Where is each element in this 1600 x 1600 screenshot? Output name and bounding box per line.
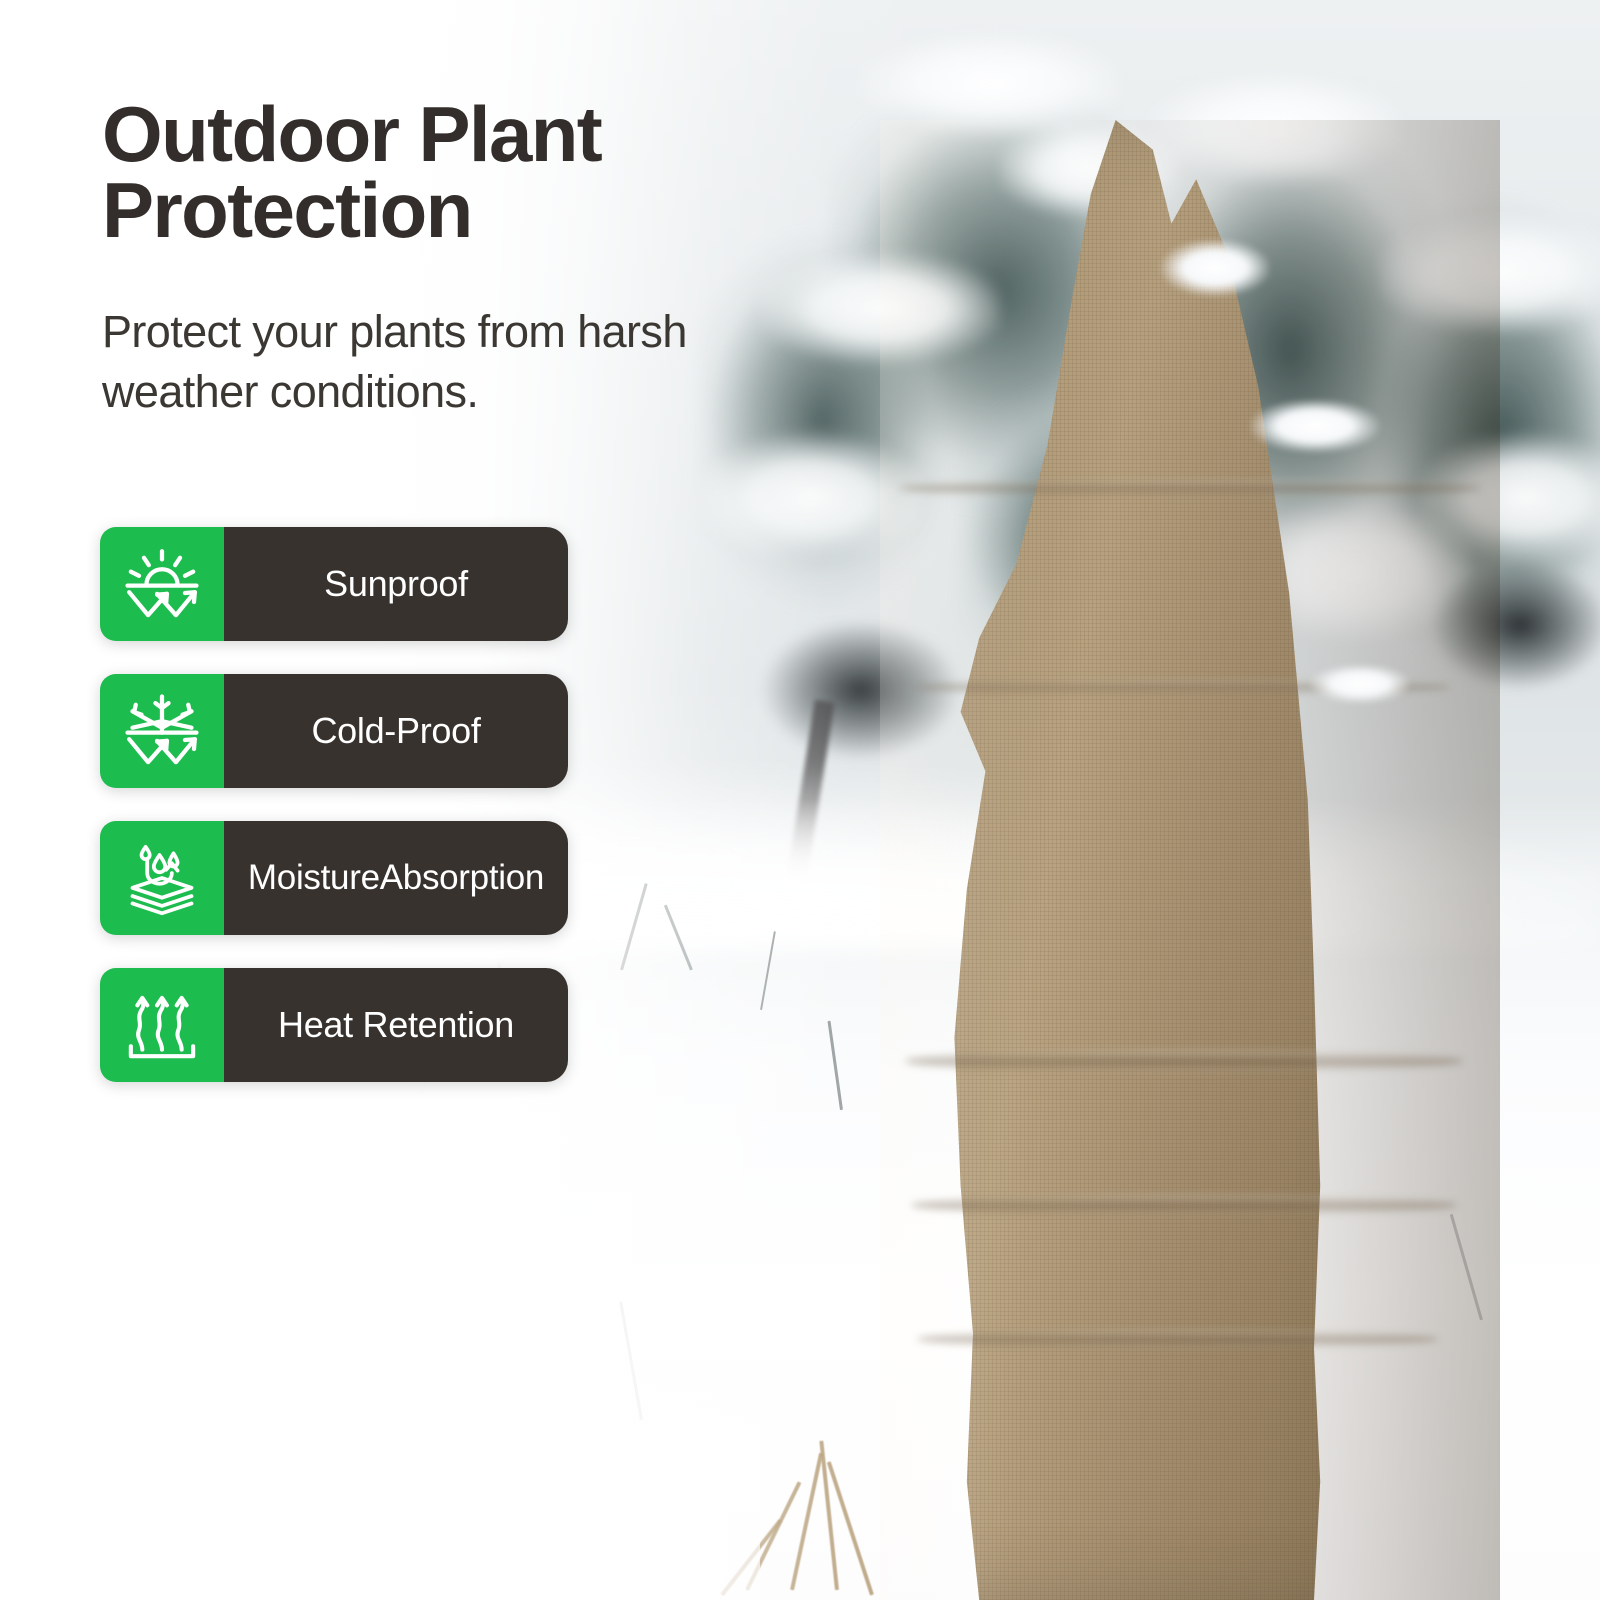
feature-label-line-2: Absorption bbox=[380, 858, 544, 898]
rising-heat-waves-icon bbox=[100, 968, 224, 1082]
feature-badge-heat-retention[interactable]: Heat Retention bbox=[100, 968, 568, 1082]
page-subtitle: Protect your plants from harsh weather c… bbox=[102, 302, 762, 422]
content-layer: Outdoor Plant Protection Protect your pl… bbox=[0, 0, 1600, 1600]
feature-badge-label: Sunproof bbox=[224, 527, 568, 641]
marketing-graphic-canvas: Outdoor Plant Protection Protect your pl… bbox=[0, 0, 1600, 1600]
feature-label-line-1: Moisture bbox=[248, 858, 380, 898]
feature-badge-cold-proof[interactable]: Cold-Proof bbox=[100, 674, 568, 788]
sun-deflection-icon bbox=[100, 527, 224, 641]
feature-badge-label: Moisture Absorption bbox=[224, 821, 568, 935]
feature-badge-label: Heat Retention bbox=[224, 968, 568, 1082]
snowflake-deflection-icon bbox=[100, 674, 224, 788]
feature-badge-sunproof[interactable]: Sunproof bbox=[100, 527, 568, 641]
feature-badge-label: Cold-Proof bbox=[224, 674, 568, 788]
page-title: Outdoor Plant Protection bbox=[102, 96, 822, 249]
water-droplet-layers-icon bbox=[100, 821, 224, 935]
feature-badge-moisture-absorption[interactable]: Moisture Absorption bbox=[100, 821, 568, 935]
feature-badge-list: Sunproof bbox=[100, 527, 570, 1115]
